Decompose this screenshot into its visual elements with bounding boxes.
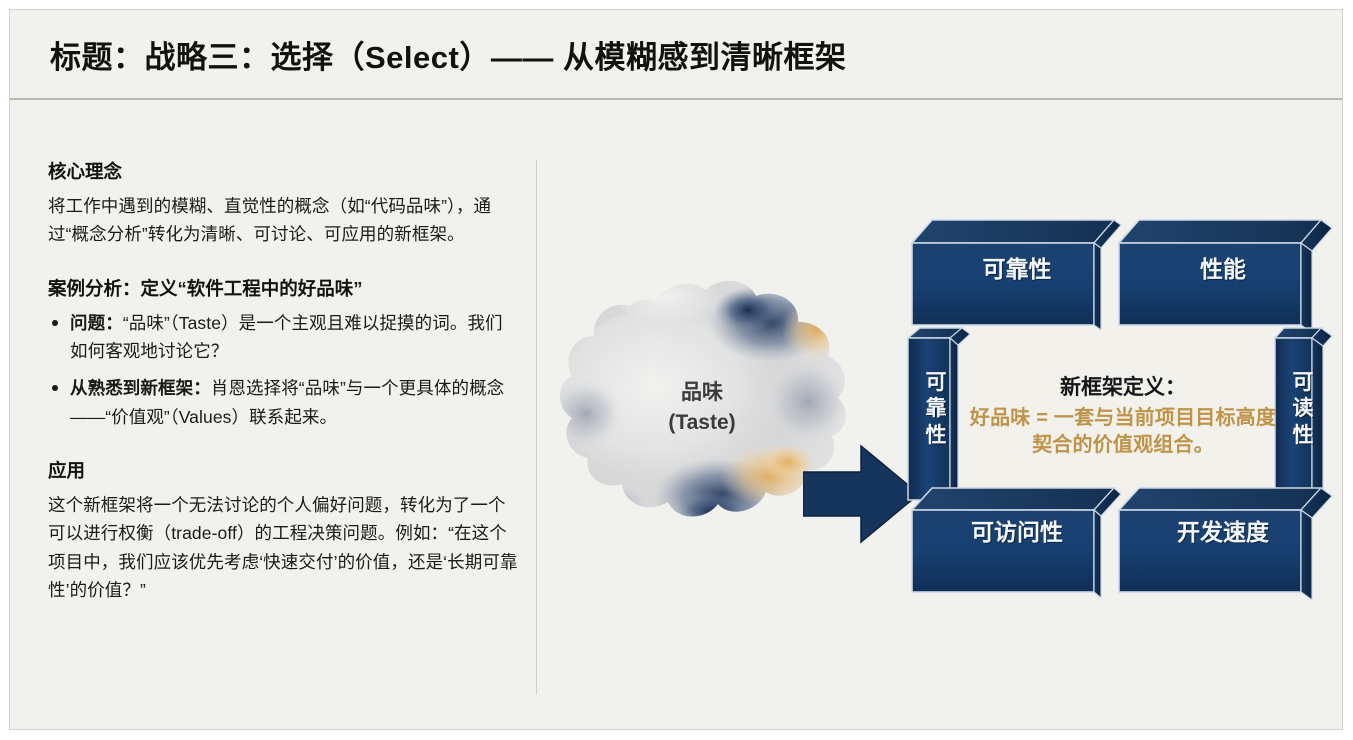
bullet-text: “品味”（Taste）是一个主观且难以捉摸的词。我们如何客观地讨论它？ xyxy=(70,313,503,361)
slide-canvas: 标题：战略三：选择（Select）—— 从模糊感到清晰框架 核心理念 将工作中遇… xyxy=(9,9,1343,730)
section-heading-core-idea: 核心理念 xyxy=(48,160,518,185)
section-paragraph-core-idea: 将工作中遇到的模糊、直觉性的概念（如“代码品味”），通过“概念分析”转化为清晰、… xyxy=(48,192,518,249)
bullet-strong-label: 问题： xyxy=(70,313,123,333)
section-heading-application: 应用 xyxy=(48,459,518,484)
list-item: 从熟悉到新框架：肖恩选择将“品味”与一个更具体的概念——“价值观”（Values… xyxy=(48,374,518,431)
right-diagram-column: 品味 (Taste) xyxy=(536,102,1342,729)
case-study-bullet-list: 问题：“品味”（Taste）是一个主观且难以捉摸的词。我们如何客观地讨论它？ 从… xyxy=(48,309,518,431)
slide-title-bar: 标题：战略三：选择（Select）—— 从模糊感到清晰框架 xyxy=(10,10,1342,100)
cube-diagram xyxy=(902,198,1342,622)
section-heading-case-study: 案例分析：定义“软件工程中的好品味” xyxy=(48,277,518,302)
framework-cube: 可靠性 性能 可访问性 开发速度 可靠性 可读性 新框架定义： 好品味 = 一套… xyxy=(902,198,1342,622)
left-text-column: 核心理念 将工作中遇到的模糊、直觉性的概念（如“代码品味”），通过“概念分析”转… xyxy=(48,160,518,604)
slide-body: 核心理念 将工作中遇到的模糊、直觉性的概念（如“代码品味”），通过“概念分析”转… xyxy=(10,102,1342,729)
page-title: 标题：战略三：选择（Select）—— 从模糊感到清晰框架 xyxy=(10,32,846,77)
list-item: 问题：“品味”（Taste）是一个主观且难以捉摸的词。我们如何客观地讨论它？ xyxy=(48,309,518,366)
section-paragraph-application: 这个新框架将一个无法讨论的个人偏好问题，转化为了一个可以进行权衡（trade-o… xyxy=(48,491,518,604)
bullet-strong-label: 从熟悉到新框架： xyxy=(70,378,211,398)
